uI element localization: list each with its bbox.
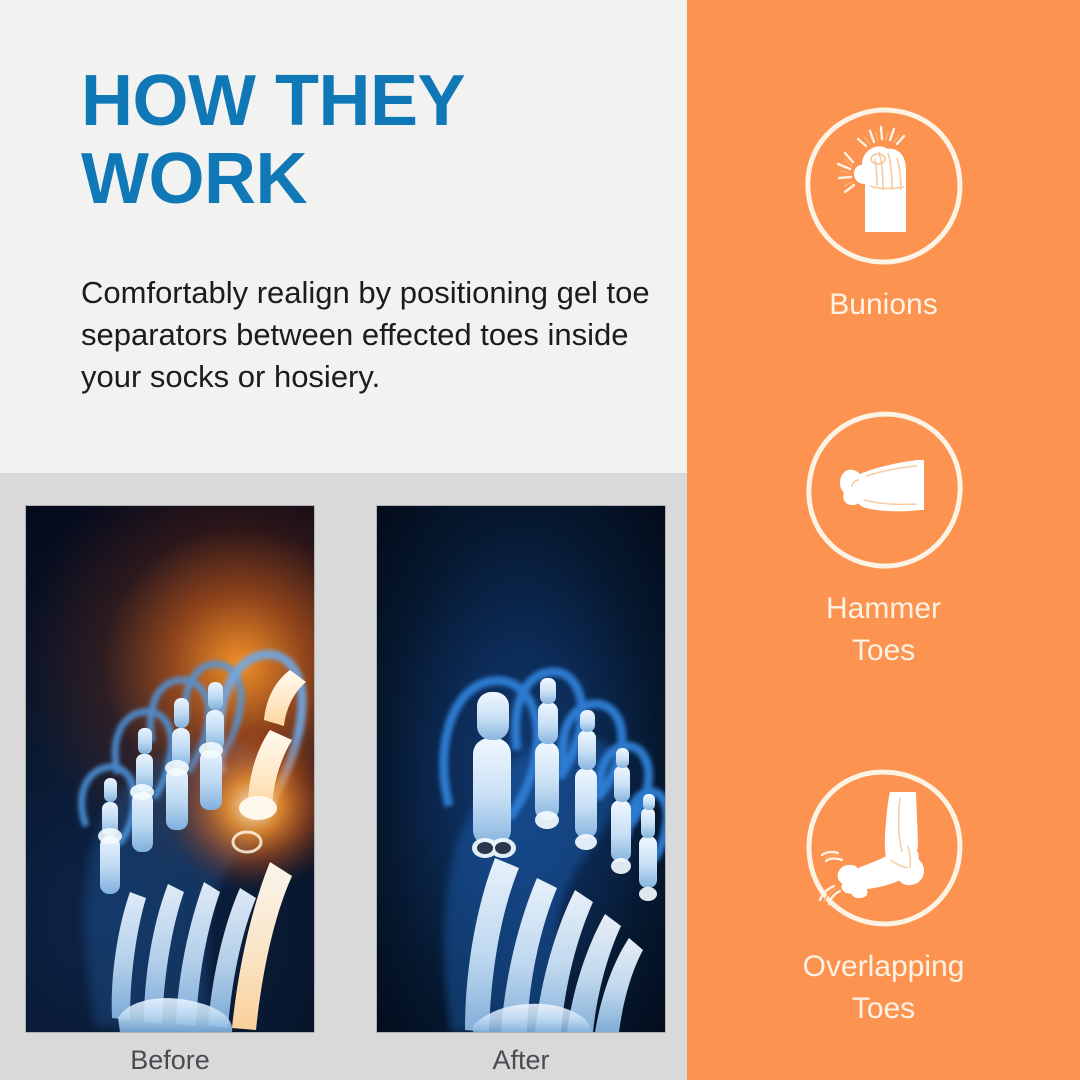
overlapping-toes-badge	[804, 768, 964, 928]
xray-foot-bunion-illustration	[26, 506, 314, 1032]
copy-block: HOW THEY WORK Comfortably realign by pos…	[0, 0, 687, 473]
bunion-foot-icon	[804, 106, 964, 266]
comparison-item-before: Before	[26, 506, 314, 1032]
condition-rail: Bunions	[687, 0, 1080, 1080]
infographic-page: HOW THEY WORK Comfortably realign by pos…	[0, 0, 1080, 1080]
rail-label-overlapping-toes: Overlapping Toes	[687, 946, 1080, 1030]
rail-label-bunions: Bunions	[687, 284, 1080, 326]
rail-label-hammer-toes: Hammer Toes	[687, 588, 1080, 672]
xray-foot-aligned-illustration	[377, 506, 665, 1032]
rail-item-overlapping-toes[interactable]: Overlapping Toes	[687, 768, 1080, 1030]
left-column: HOW THEY WORK Comfortably realign by pos…	[0, 0, 687, 1080]
hammer-toe-badge	[804, 410, 964, 570]
rail-item-hammer-toes[interactable]: Hammer Toes	[687, 410, 1080, 672]
before-after-strip: Before	[0, 473, 687, 1080]
xray-image-before	[26, 506, 314, 1032]
caption-before: Before	[26, 1044, 314, 1076]
page-title: HOW THEY WORK	[81, 62, 641, 218]
body-description: Comfortably realign by positioning gel t…	[81, 272, 656, 398]
bunion-badge	[804, 106, 964, 266]
hammer-toe-foot-icon	[804, 410, 964, 570]
xray-image-after	[377, 506, 665, 1032]
caption-after: After	[377, 1044, 665, 1076]
overlapping-toes-foot-icon	[804, 768, 964, 928]
comparison-item-after: After	[377, 506, 665, 1032]
rail-item-bunions[interactable]: Bunions	[687, 106, 1080, 326]
